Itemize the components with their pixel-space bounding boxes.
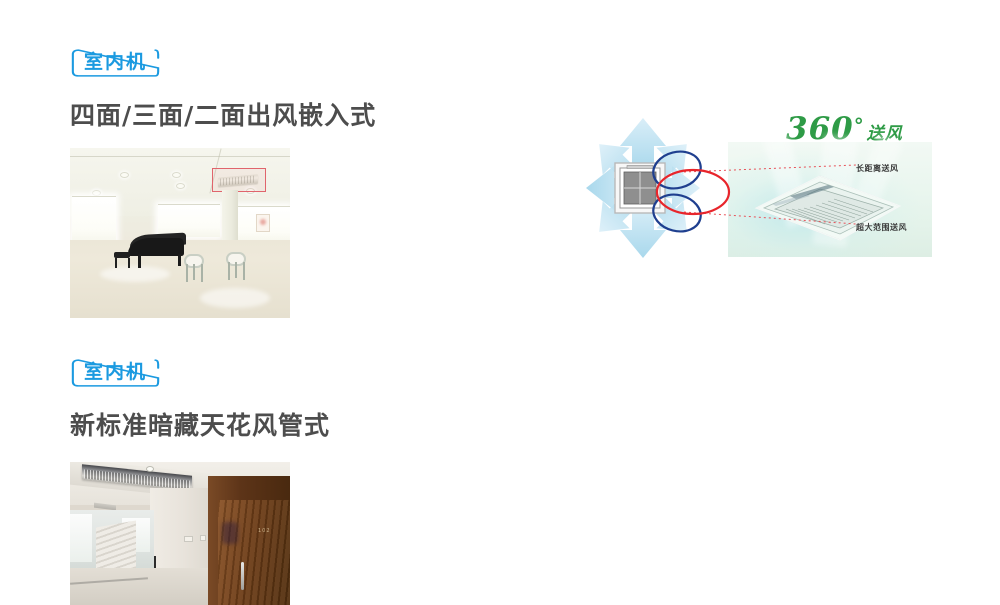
chair-leg bbox=[243, 262, 245, 280]
chair-leg bbox=[193, 264, 195, 280]
badge-label: 室内机 bbox=[84, 361, 147, 383]
wall-switch-plate bbox=[184, 536, 193, 542]
floor-reflection bbox=[200, 288, 270, 308]
piano-leg bbox=[138, 254, 141, 268]
window-left bbox=[72, 196, 116, 243]
badge-indoor-unit-2: 室内机 bbox=[70, 358, 161, 388]
section-heading-1: 四面/三面/二面出风嵌入式 bbox=[70, 103, 376, 128]
door-handle bbox=[241, 562, 244, 590]
section-heading-2: 新标准暗藏天花风管式 bbox=[70, 413, 330, 438]
wall-art bbox=[256, 214, 270, 232]
wooden-door bbox=[218, 500, 290, 605]
airflow-arrows-group bbox=[580, 108, 940, 268]
downlight bbox=[172, 172, 181, 178]
window-center bbox=[158, 204, 220, 237]
downlight bbox=[176, 183, 185, 189]
photo-music-room bbox=[70, 148, 290, 318]
leader-line-top bbox=[684, 165, 856, 172]
ceiling-line bbox=[70, 156, 290, 157]
chair-left bbox=[184, 254, 204, 282]
chair-leg bbox=[201, 264, 203, 282]
piano-leg bbox=[178, 254, 181, 266]
glass-daylight bbox=[70, 514, 92, 562]
badge-indoor-unit-1: 室内机 bbox=[70, 48, 161, 78]
wall-switch-plate bbox=[200, 535, 206, 541]
section-embedded-cassette: 室内机 四面/三面/二面出风嵌入式 bbox=[70, 48, 376, 128]
leader-line-bottom bbox=[684, 212, 856, 224]
floor-reflection bbox=[100, 266, 170, 282]
music-room-scene bbox=[70, 148, 290, 318]
downlight bbox=[146, 466, 154, 472]
chair-right bbox=[226, 252, 246, 280]
door-glass-insert bbox=[222, 522, 238, 544]
door-number: 102 bbox=[258, 528, 271, 534]
chair-leg bbox=[186, 264, 188, 282]
ac-highlight-box bbox=[212, 168, 266, 192]
badge-label: 室内机 bbox=[84, 51, 147, 73]
piano-body bbox=[128, 238, 184, 256]
section-ducted-ceiling: 室内机 新标准暗藏天花风管式 bbox=[70, 358, 330, 438]
bench-leg bbox=[115, 258, 117, 268]
bench-leg bbox=[128, 258, 130, 268]
photo-hallway: 102 bbox=[70, 462, 290, 605]
hallway-scene: 102 bbox=[70, 462, 290, 605]
chair-leg bbox=[228, 262, 230, 280]
chair-leg bbox=[235, 262, 237, 278]
airflow-diagram: 360°送风 bbox=[580, 108, 940, 268]
downlight bbox=[120, 172, 129, 178]
